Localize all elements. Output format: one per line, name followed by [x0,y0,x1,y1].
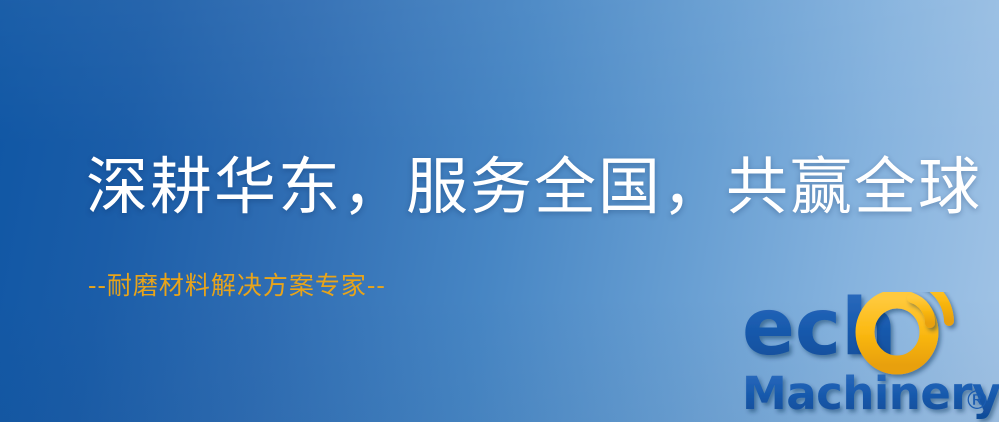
hero-banner: 深耕华东，服务全国，共赢全球 --耐磨材料解决方案专家-- [0,0,999,422]
echo-machinery-logo[interactable]: ech Machinery ® [742,292,999,422]
logo-subtext-group: Machinery ® [742,367,999,420]
registered-trademark-icon: ® [964,386,990,416]
banner-subheadline: --耐磨材料解决方案专家-- [88,266,386,302]
logo-machinery-text: Machinery [742,367,999,420]
banner-headline: 深耕华东，服务全国，共赢全球 [86,152,982,221]
